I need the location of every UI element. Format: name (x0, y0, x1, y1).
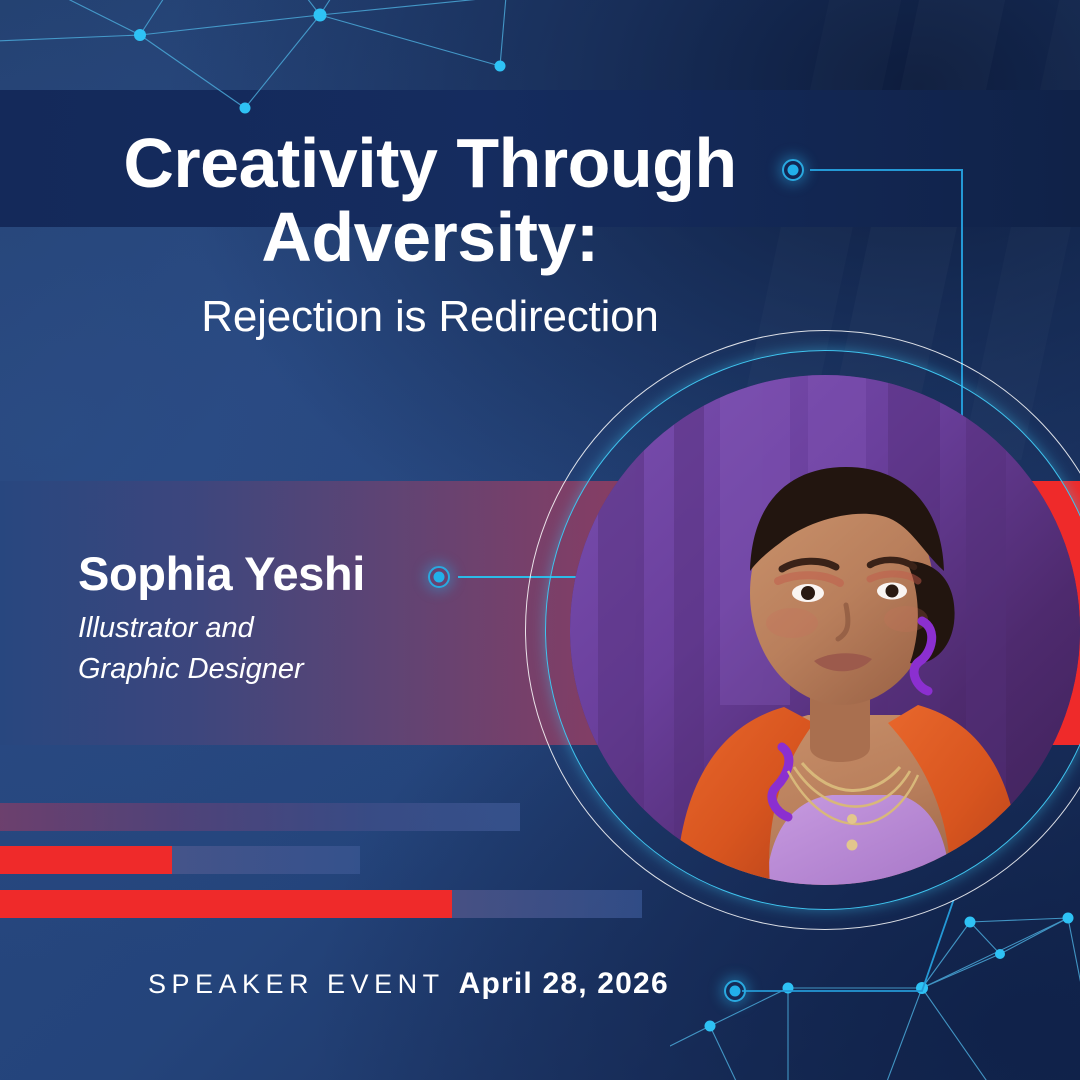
speaker-event-poster: Creativity Through Adversity: Rejection … (0, 0, 1080, 1080)
accent-bar-2-red (0, 846, 172, 874)
title-line-1: Creativity Through (0, 126, 860, 200)
accent-bar-2-blue (172, 846, 360, 874)
title-line-2: Adversity: (0, 200, 860, 274)
portrait-ring-outer (525, 330, 1080, 930)
speaker-name: Sophia Yeshi (78, 546, 365, 601)
speaker-role-line-1: Illustrator and (78, 608, 304, 649)
speaker-role: Illustrator and Graphic Designer (78, 608, 304, 690)
connector-dot-footer (724, 980, 746, 1002)
event-label: SPEAKER EVENT (148, 969, 445, 1000)
event-date: April 28, 2026 (459, 967, 669, 1001)
accent-bar-3-red (0, 890, 452, 918)
event-footer: SPEAKER EVENT April 28, 2026 (148, 967, 669, 1001)
page-title: Creativity Through Adversity: (0, 126, 860, 274)
connector-dot-speaker (428, 566, 450, 588)
accent-bar-1 (0, 803, 520, 831)
page-subtitle: Rejection is Redirection (0, 292, 860, 342)
speaker-portrait (525, 330, 1080, 930)
speaker-role-line-2: Graphic Designer (78, 649, 304, 690)
